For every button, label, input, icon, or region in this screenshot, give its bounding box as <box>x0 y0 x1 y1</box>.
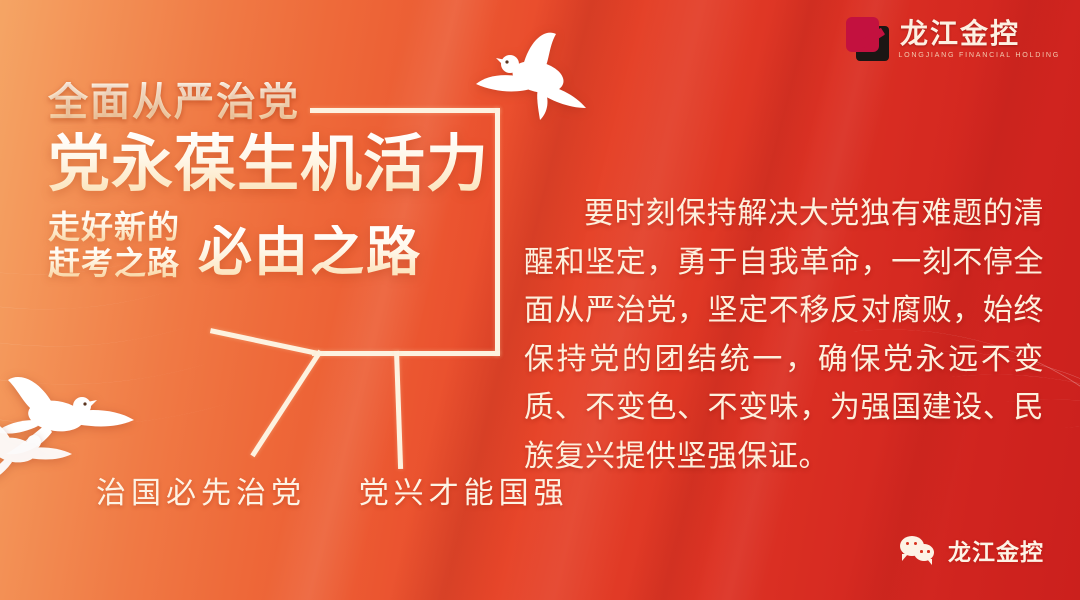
wechat-icon <box>900 535 940 565</box>
slogan-part-1: 治国必先治党 <box>96 477 306 510</box>
headline-block: 全面从严治党 党永葆生机活力 走好新的 赶考之路 必由之路 <box>48 82 489 281</box>
headline-small-line-1: 走好新的 <box>48 210 180 246</box>
brand-logo-mark-icon <box>845 16 891 62</box>
dove-top-center-icon <box>470 22 600 132</box>
brand-name-en: LONGJIANG FINANCIAL HOLDING <box>898 52 1060 59</box>
wechat-dot <box>920 550 923 553</box>
wechat-account-name: 龙江金控 <box>948 533 1044 567</box>
bubble-tail-right <box>394 351 403 469</box>
dove-left-edge-icon <box>0 404 80 494</box>
brand-name-cn: 龙江金控 <box>900 20 1058 48</box>
headline-small-group: 走好新的 赶考之路 <box>48 210 180 282</box>
headline-line-2: 党永葆生机活力 <box>48 132 489 198</box>
headline-lower-row: 走好新的 赶考之路 必由之路 <box>48 210 489 282</box>
bubble-tail-left <box>250 350 322 458</box>
headline-line-3: 必由之路 <box>198 225 422 281</box>
body-paragraph: 要时刻保持解决大党独有难题的清醒和坚定，勇于自我革命，一刻不停全面从严治党，坚定… <box>524 190 1044 482</box>
brand-logo[interactable]: 龙江金控 LONGJIANG FINANCIAL HOLDING <box>845 16 1058 62</box>
bottom-slogan: 治国必先治党 党兴才能国强 <box>96 468 569 512</box>
slogan-part-2: 党兴才能国强 <box>359 477 569 510</box>
brand-logo-text: 龙江金控 LONGJIANG FINANCIAL HOLDING <box>900 20 1058 59</box>
dove-left-lower-icon <box>0 358 144 478</box>
wechat-dot <box>906 542 909 545</box>
bubble-edge-bottom <box>312 351 500 356</box>
wechat-bubble-small <box>914 544 934 561</box>
headline-line-1: 全面从严治党 <box>48 82 489 122</box>
wechat-dot <box>927 550 930 553</box>
headline-small-line-2: 赶考之路 <box>48 246 180 282</box>
bubble-edge-right <box>495 108 500 356</box>
poster-canvas: 龙江金控 LONGJIANG FINANCIAL HOLDING 全面从严治党 … <box>0 0 1080 600</box>
wechat-account-badge[interactable]: 龙江金控 <box>900 533 1044 567</box>
wechat-dot <box>914 542 917 545</box>
bubble-edge-bottom-left <box>210 328 319 356</box>
